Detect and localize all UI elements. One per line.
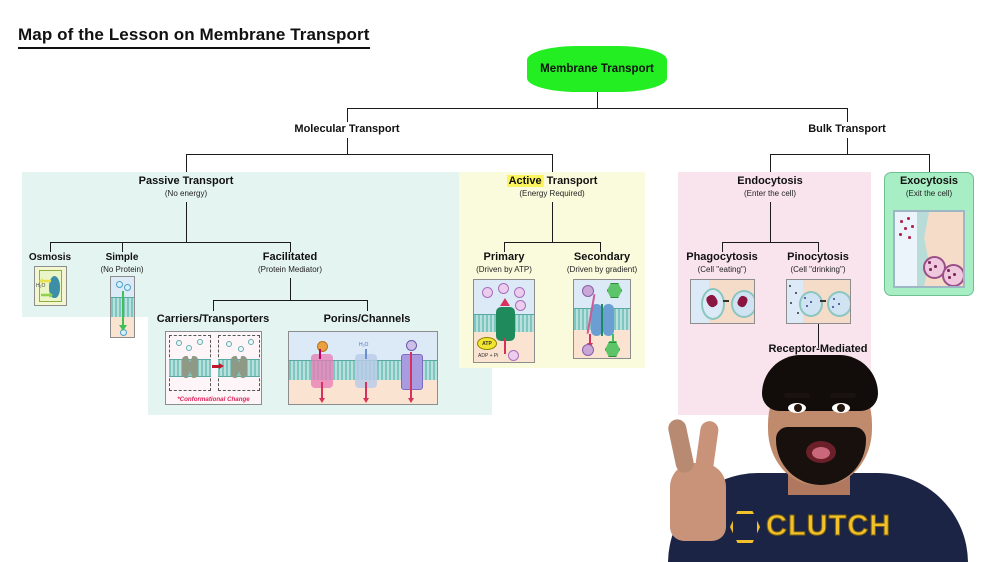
figure-pinocytosis bbox=[786, 279, 851, 324]
connector-to-bulk bbox=[847, 108, 848, 122]
adp-label: ADP + Pi bbox=[478, 353, 498, 359]
node-pinocytosis[interactable]: Pinocytosis (Cell "drinking") bbox=[768, 251, 868, 275]
node-label: Primary bbox=[454, 251, 554, 264]
presenter-tongue bbox=[812, 447, 830, 459]
figure-exocytosis bbox=[893, 210, 965, 288]
node-label: Endocytosis bbox=[710, 175, 830, 188]
presenter-hair bbox=[762, 355, 878, 411]
presenter-hand bbox=[670, 463, 726, 541]
node-label: Secondary bbox=[552, 251, 652, 264]
node-label: Active Transport bbox=[487, 175, 617, 188]
connector-to-carriers bbox=[213, 300, 214, 311]
node-sublabel: (Protein Mediator) bbox=[230, 264, 350, 275]
active-rest: Transport bbox=[547, 175, 598, 187]
figure-primary-active-transport: ATP ADP + Pi bbox=[473, 279, 535, 363]
connector-bulk-down bbox=[847, 138, 848, 154]
node-passive-transport[interactable]: Passive Transport (No energy) bbox=[116, 175, 256, 199]
node-sublabel: (Enter the cell) bbox=[710, 188, 830, 199]
connector-facilitated-bus bbox=[213, 300, 367, 301]
node-sublabel: (Cell "eating") bbox=[672, 264, 772, 275]
figure-carriers-transporters: *Conformational Change bbox=[165, 331, 262, 405]
connector-passive-down bbox=[186, 202, 187, 242]
atp-label: ATP bbox=[477, 337, 497, 350]
root-node-label: Membrane Transport bbox=[527, 46, 667, 92]
node-osmosis[interactable]: Osmosis bbox=[10, 251, 90, 264]
node-label: Molecular Transport bbox=[277, 123, 417, 136]
presenter-finger-middle bbox=[694, 420, 719, 474]
page-title: Map of the Lesson on Membrane Transport bbox=[18, 25, 370, 49]
node-sublabel: (Driven by gradient) bbox=[552, 264, 652, 275]
passive-transport-panel bbox=[22, 172, 492, 317]
connector-passive-bus bbox=[50, 242, 290, 243]
connector-to-exocytosis bbox=[929, 154, 930, 172]
presenter-pupil-right bbox=[837, 404, 845, 412]
connector-root-down bbox=[597, 92, 598, 108]
node-endocytosis[interactable]: Endocytosis (Enter the cell) bbox=[710, 175, 830, 199]
figure-annotation: *Conformational Change bbox=[166, 396, 261, 403]
presenter-pupil-left bbox=[794, 404, 802, 412]
connector-to-porins bbox=[367, 300, 368, 311]
figure-phagocytosis bbox=[690, 279, 755, 324]
presenter-finger-index bbox=[667, 418, 696, 475]
node-label: Pinocytosis bbox=[768, 251, 868, 264]
node-sublabel: (No Protein) bbox=[82, 264, 162, 275]
node-label: Porins/Channels bbox=[307, 313, 427, 326]
shirt-logo-text: CLUTCH bbox=[766, 511, 891, 541]
connector-to-passive bbox=[186, 154, 187, 172]
node-sublabel: (Driven by ATP) bbox=[454, 264, 554, 275]
node-bulk-transport[interactable]: Bulk Transport bbox=[777, 123, 917, 136]
connector-active-bus bbox=[504, 242, 600, 243]
node-active-transport[interactable]: Active Transport (Energy Required) bbox=[487, 175, 617, 199]
node-exocytosis[interactable]: Exocytosis (Exit the cell) bbox=[889, 175, 969, 199]
node-carriers-transporters[interactable]: Carriers/Transporters bbox=[153, 313, 273, 326]
node-label: Simple bbox=[82, 251, 162, 264]
presenter-brow-left bbox=[784, 393, 810, 398]
node-label: Bulk Transport bbox=[777, 123, 917, 136]
node-label: Facilitated bbox=[230, 251, 350, 264]
connector-to-endocytosis bbox=[770, 154, 771, 172]
node-secondary-active-transport[interactable]: Secondary (Driven by gradient) bbox=[552, 251, 652, 275]
active-highlight: Active bbox=[507, 175, 544, 187]
figure-secondary-active-transport bbox=[573, 279, 631, 359]
instructor-webcam-overlay: CLUTCH bbox=[640, 345, 1000, 562]
node-primary-active-transport[interactable]: Primary (Driven by ATP) bbox=[454, 251, 554, 275]
node-label: Osmosis bbox=[10, 251, 90, 264]
node-facilitated-diffusion[interactable]: Facilitated (Protein Mediator) bbox=[230, 251, 350, 275]
figure-simple-diffusion bbox=[110, 276, 135, 338]
connector-active-down bbox=[552, 202, 553, 242]
connector-to-active bbox=[552, 154, 553, 172]
node-molecular-transport[interactable]: Molecular Transport bbox=[277, 123, 417, 136]
connector-to-molecular bbox=[347, 108, 348, 122]
node-label: Exocytosis bbox=[889, 175, 969, 188]
node-label: Phagocytosis bbox=[672, 251, 772, 264]
connector-level1-bus bbox=[347, 108, 847, 109]
node-sublabel: (No energy) bbox=[116, 188, 256, 199]
node-sublabel: (Energy Required) bbox=[487, 188, 617, 199]
connector-endocytosis-bus bbox=[722, 242, 818, 243]
connector-bulk-bus bbox=[770, 154, 929, 155]
connector-facilitated-down bbox=[290, 278, 291, 300]
lesson-map-canvas: Map of the Lesson on Membrane Transport … bbox=[0, 0, 1000, 562]
presenter-brow-right bbox=[830, 393, 856, 398]
root-node-membrane-transport[interactable]: Membrane Transport bbox=[527, 46, 667, 92]
figure-osmosis: H₂O bbox=[34, 266, 67, 306]
node-sublabel: (Exit the cell) bbox=[889, 188, 969, 199]
node-phagocytosis[interactable]: Phagocytosis (Cell "eating") bbox=[672, 251, 772, 275]
figure-porins-channels: H₂O bbox=[288, 331, 438, 405]
node-porins-channels[interactable]: Porins/Channels bbox=[307, 313, 427, 326]
connector-molecular-bus bbox=[186, 154, 552, 155]
node-simple-diffusion[interactable]: Simple (No Protein) bbox=[82, 251, 162, 275]
node-label: Passive Transport bbox=[116, 175, 256, 188]
node-sublabel: (Cell "drinking") bbox=[768, 264, 868, 275]
connector-molecular-down bbox=[347, 138, 348, 154]
node-label: Carriers/Transporters bbox=[153, 313, 273, 326]
connector-endocytosis-down bbox=[770, 202, 771, 242]
